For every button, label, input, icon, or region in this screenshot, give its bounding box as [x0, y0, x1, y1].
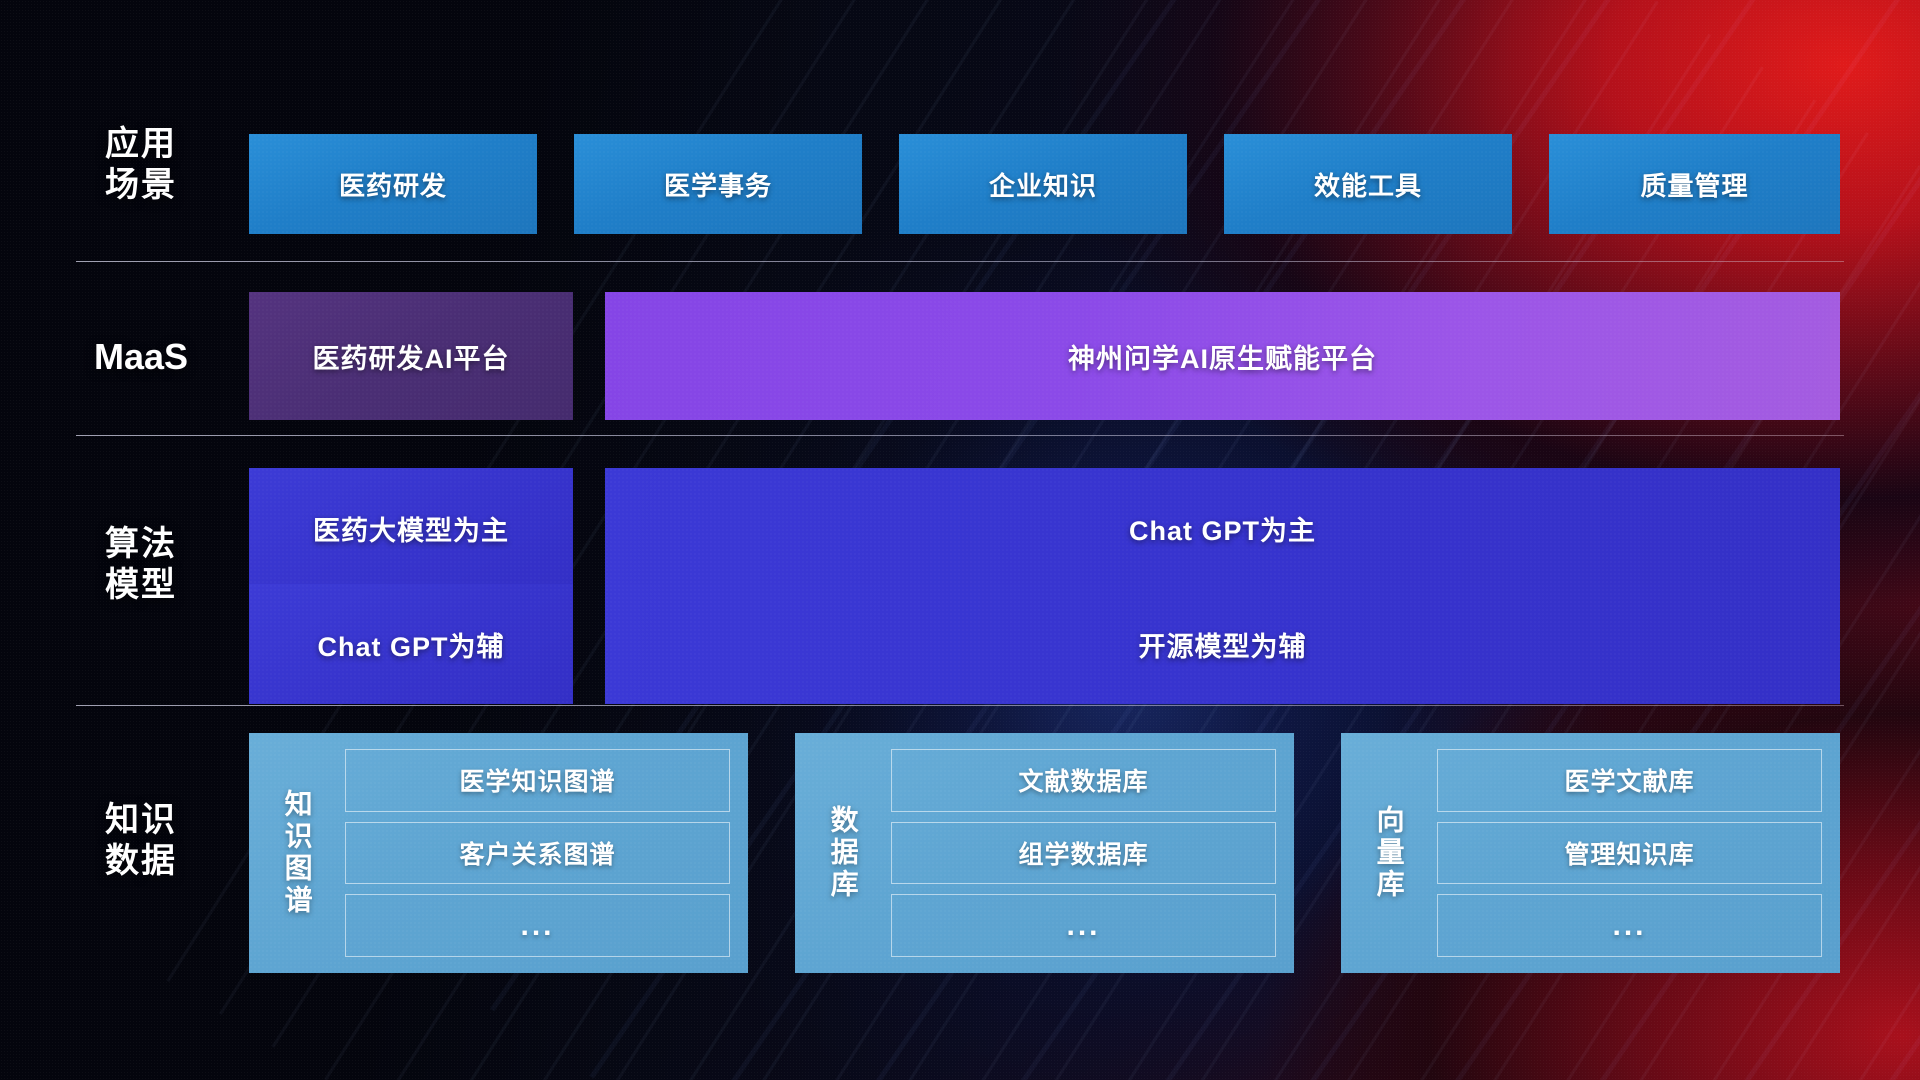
knowledge-item-medical-knowledge-graph[interactable]: 医学知识图谱 [345, 749, 730, 812]
knowledge-card-items-knowledge-graph: 医学知识图谱 客户关系图谱 ... [335, 743, 734, 963]
knowledge-item-literature-database[interactable]: 文献数据库 [891, 749, 1276, 812]
knowledge-card-database[interactable]: 数据库 文献数据库 组学数据库 ... [795, 733, 1294, 973]
row-label-knowledge-line2: 数据 [76, 841, 206, 882]
algo-box-chatgpt-secondary[interactable]: Chat GPT为辅 [249, 584, 573, 704]
maas-box-drug-rd-ai-platform[interactable]: 医药研发AI平台 [249, 292, 573, 420]
row-label-algorithm: 算法 模型 [76, 524, 206, 607]
app-box-medical-affairs[interactable]: 医学事务 [574, 134, 862, 234]
slide-canvas: 应用 场景 医药研发 医学事务 企业知识 效能工具 质量管理 MaaS 医药研发… [0, 0, 1920, 1080]
row-label-knowledge: 知识 数据 [76, 800, 206, 883]
row-label-algorithm-line2: 模型 [76, 565, 206, 606]
algo-box-opensource-secondary[interactable]: 开源模型为辅 [605, 584, 1840, 704]
algo-box-chatgpt-primary[interactable]: Chat GPT为主 [605, 468, 1840, 588]
knowledge-item-management-knowledge-store[interactable]: 管理知识库 [1437, 822, 1822, 885]
knowledge-item-omics-database[interactable]: 组学数据库 [891, 822, 1276, 885]
algo-box-pharma-llm-primary[interactable]: 医药大模型为主 [249, 468, 573, 588]
row-label-maas-text: MaaS [76, 335, 206, 379]
knowledge-card-knowledge-graph[interactable]: 知识图谱 医学知识图谱 客户关系图谱 ... [249, 733, 748, 973]
knowledge-card-title-knowledge-graph: 知识图谱 [259, 743, 335, 963]
knowledge-card-title-database: 数据库 [805, 743, 881, 963]
row-label-knowledge-line1: 知识 [76, 800, 206, 841]
row-label-algorithm-line1: 算法 [76, 524, 206, 565]
maas-box-shenzhou-wenxue-platform[interactable]: 神州问学AI原生赋能平台 [605, 292, 1840, 420]
divider-maas-algorithm [76, 435, 1844, 436]
row-label-application: 应用 场景 [76, 124, 206, 207]
knowledge-card-vector-store[interactable]: 向量库 医学文献库 管理知识库 ... [1341, 733, 1840, 973]
app-box-quality-management[interactable]: 质量管理 [1549, 134, 1840, 234]
knowledge-card-items-database: 文献数据库 组学数据库 ... [881, 743, 1280, 963]
divider-application-maas [76, 261, 1844, 262]
knowledge-item-more-knowledge-graph[interactable]: ... [345, 894, 730, 957]
knowledge-item-medical-literature-store[interactable]: 医学文献库 [1437, 749, 1822, 812]
app-box-drug-rd[interactable]: 医药研发 [249, 134, 537, 234]
knowledge-item-more-vector-store[interactable]: ... [1437, 894, 1822, 957]
architecture-diagram: 应用 场景 医药研发 医学事务 企业知识 效能工具 质量管理 MaaS 医药研发… [0, 0, 1920, 1080]
row-label-application-line2: 场景 [76, 165, 206, 206]
app-box-enterprise-knowledge[interactable]: 企业知识 [899, 134, 1187, 234]
app-box-efficiency-tools[interactable]: 效能工具 [1224, 134, 1512, 234]
row-label-maas: MaaS [76, 335, 206, 379]
row-label-application-line1: 应用 [76, 124, 206, 165]
knowledge-item-customer-relation-graph[interactable]: 客户关系图谱 [345, 822, 730, 885]
knowledge-card-items-vector-store: 医学文献库 管理知识库 ... [1427, 743, 1826, 963]
knowledge-card-title-vector-store: 向量库 [1351, 743, 1427, 963]
knowledge-item-more-database[interactable]: ... [891, 894, 1276, 957]
divider-algorithm-knowledge [76, 705, 1844, 706]
